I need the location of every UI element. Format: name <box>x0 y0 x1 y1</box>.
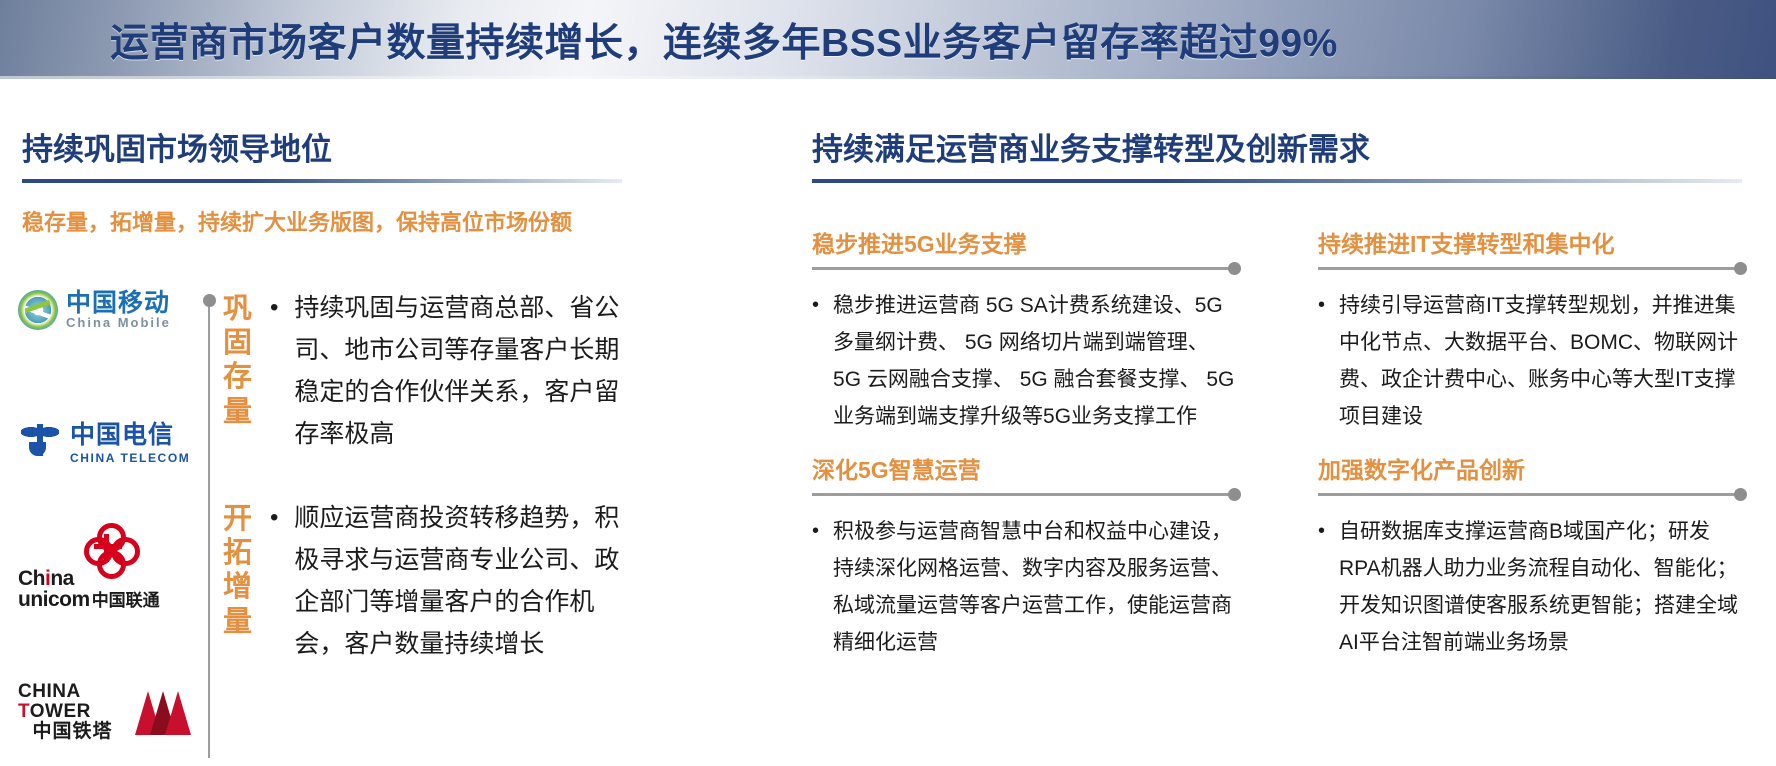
bullet-marker-icon: • <box>270 497 278 665</box>
left-section-heading-text: 持续巩固市场领导地位 <box>22 133 622 167</box>
china-mobile-mark-icon <box>18 290 58 330</box>
right-section-heading-rule <box>812 179 1742 183</box>
rule-dot-icon <box>1734 262 1747 275</box>
right-block-text-2: 持续引导运营商IT支撑转型规划，并推进集中化节点、大数据平台、BOMC、物联网计… <box>1339 287 1742 435</box>
right-block-rule-2 <box>1318 267 1742 270</box>
right-block-it-support-transformation: 持续推进IT支撑转型和集中化 • 持续引导运营商IT支撑转型规划，并推进集中化节… <box>1318 232 1742 435</box>
right-block-digital-product-innovation: 加强数字化产品创新 • 自研数据库支撑运营商B域国产化；研发RPA机器人助力业务… <box>1318 458 1742 661</box>
right-block-5g-smart-operations: 深化5G智慧运营 • 积极参与运营商智慧中台和权益中心建设，持续深化网格运营、数… <box>812 458 1236 661</box>
logo-china-telecom: 中国电信 CHINA TELECOM <box>18 415 193 465</box>
left-item-bullet-1: • 持续巩固与运营商总部、省公司、地市公司等存量客户长期稳定的合作伙伴关系，客户… <box>270 287 642 455</box>
china-unicom-en-line2: unicom <box>18 589 90 610</box>
right-block-rule-3 <box>812 493 1236 496</box>
china-tower-mark-icon <box>135 689 193 735</box>
right-block-title-2: 持续推进IT支撑转型和集中化 <box>1318 232 1742 257</box>
right-block-text-3: 积极参与运营商智慧中台和权益中心建设，持续深化网格运营、数字内容及服务运营、私域… <box>833 513 1236 661</box>
china-mobile-cn-label: 中国移动 <box>66 290 171 316</box>
left-item-text-2: 顺应运营商投资转移趋势，积极寻求与运营商专业公司、政企部门等增量客户的合作机会，… <box>294 497 642 665</box>
divider-dot-icon <box>203 294 216 307</box>
rule-dot-icon <box>1734 488 1747 501</box>
right-block-text-4: 自研数据库支撑运营商B域国产化；研发RPA机器人助力业务流程自动化、智能化；开发… <box>1339 513 1742 661</box>
china-tower-cn-label: 中国铁塔 <box>18 722 127 742</box>
logo-china-tower: CHINA TOWER 中国铁塔 <box>18 682 193 742</box>
bullet-marker-icon: • <box>812 287 819 435</box>
left-section-heading-rule <box>22 179 622 183</box>
left-column-vertical-divider <box>208 305 210 758</box>
right-block-title-4: 加强数字化产品创新 <box>1318 458 1742 483</box>
right-block-text-1: 稳步推进运营商 5G SA计费系统建设、5G多量纲计费、 5G 网络切片端到端管… <box>833 287 1236 435</box>
logo-china-mobile: 中国移动 China Mobile <box>18 290 193 330</box>
rule-dot-icon <box>1228 262 1241 275</box>
rule-dot-icon <box>1228 488 1241 501</box>
page-header-banner: 运营商市场客户数量持续增长，连续多年BSS业务客户留存率超过99% <box>0 0 1776 79</box>
china-telecom-mark-icon <box>18 420 62 460</box>
right-section-heading-text: 持续满足运营商业务支撑转型及创新需求 <box>812 133 1742 167</box>
logo-china-unicom: China unicom 中国联通 <box>18 520 193 620</box>
bullet-marker-icon: • <box>1318 513 1325 661</box>
right-block-rule-4 <box>1318 493 1742 496</box>
left-item-bullet-2: • 顺应运营商投资转移趋势，积极寻求与运营商专业公司、政企部门等增量客户的合作机… <box>270 497 642 665</box>
right-block-5g-business-support: 稳步推进5G业务支撑 • 稳步推进运营商 5G SA计费系统建设、5G多量纲计费… <box>812 232 1236 435</box>
page-title: 运营商市场客户数量持续增长，连续多年BSS业务客户留存率超过99% <box>110 12 1338 68</box>
left-section-subheading: 稳存量，拓增量，持续扩大业务版图，保持高位市场份额 <box>22 205 572 237</box>
china-tower-en-label: CHINA TOWER <box>18 682 127 722</box>
bullet-marker-icon: • <box>1318 287 1325 435</box>
china-unicom-cn-label: 中国联通 <box>92 592 160 609</box>
right-section-heading: 持续满足运营商业务支撑转型及创新需求 <box>812 133 1742 183</box>
left-section-heading: 持续巩固市场领导地位 <box>22 133 622 183</box>
right-block-rule-1 <box>812 267 1236 270</box>
bullet-marker-icon: • <box>812 513 819 661</box>
left-item-vertical-label-2: 开拓增量 <box>218 502 258 639</box>
china-telecom-cn-label: 中国电信 <box>70 415 190 451</box>
china-mobile-en-label: China Mobile <box>66 316 171 330</box>
bullet-marker-icon: • <box>270 287 278 455</box>
left-item-vertical-label-1: 巩固存量 <box>218 292 258 429</box>
right-block-title-1: 稳步推进5G业务支撑 <box>812 232 1236 257</box>
china-unicom-en-line1: China <box>18 568 160 589</box>
left-item-text-1: 持续巩固与运营商总部、省公司、地市公司等存量客户长期稳定的合作伙伴关系，客户留存… <box>294 287 642 455</box>
right-block-title-3: 深化5G智慧运营 <box>812 458 1236 483</box>
china-telecom-en-label: CHINA TELECOM <box>70 451 190 465</box>
china-unicom-mark-icon <box>80 520 136 572</box>
